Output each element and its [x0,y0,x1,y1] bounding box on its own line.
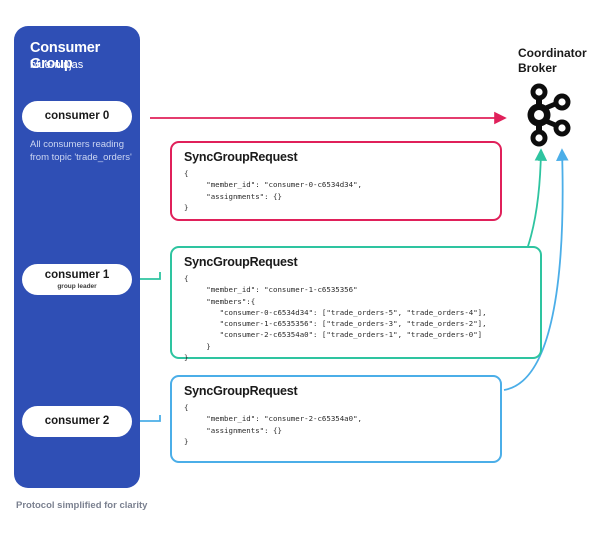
consumer-2-pill[interactable]: consumer 2 [22,406,132,437]
syncgrouprequest-box-consumer-0: SyncGroupRequest { "member_id": "consume… [170,141,502,221]
consumer-0-pill[interactable]: consumer 0 [22,101,132,132]
broker-label-line-1: Coordinator [518,46,587,61]
consumer-1-pill[interactable]: consumer 1 group leader [22,264,132,295]
broker-label-line-2: Broker [518,61,587,76]
request-title: SyncGroupRequest [184,384,298,398]
request-payload: { "member_id": "consumer-1-c6535356" "me… [184,273,487,363]
request-title: SyncGroupRequest [184,255,298,269]
coordinator-broker-label: Coordinator Broker [518,46,587,77]
diagram-canvas: Consumer Group blue-ninjas All consumers… [0,0,600,546]
consumer-2-label: consumer 2 [45,415,110,428]
connector-consumer-1-to-box [140,272,160,279]
request-title: SyncGroupRequest [184,150,298,164]
consumer-1-role: group leader [57,283,96,290]
consumer-group-note: All consumers reading from topic 'trade_… [30,138,134,164]
consumer-group-name: blue-ninjas [30,59,83,71]
request-payload: { "member_id": "consumer-2-c65354a0", "a… [184,402,362,447]
diagram-caption: Protocol simplified for clarity [16,500,147,511]
consumer-1-label: consumer 1 [45,269,110,282]
request-payload: { "member_id": "consumer-0-c6534d34", "a… [184,168,362,213]
consumer-0-label: consumer 0 [45,110,110,123]
syncgrouprequest-box-consumer-2: SyncGroupRequest { "member_id": "consume… [170,375,502,463]
connector-consumer-2-to-box [140,415,160,421]
kafka-logo-icon [521,82,577,153]
consumer-group-panel: Consumer Group blue-ninjas All consumers… [14,26,140,488]
syncgrouprequest-box-consumer-1: SyncGroupRequest { "member_id": "consume… [170,246,542,359]
